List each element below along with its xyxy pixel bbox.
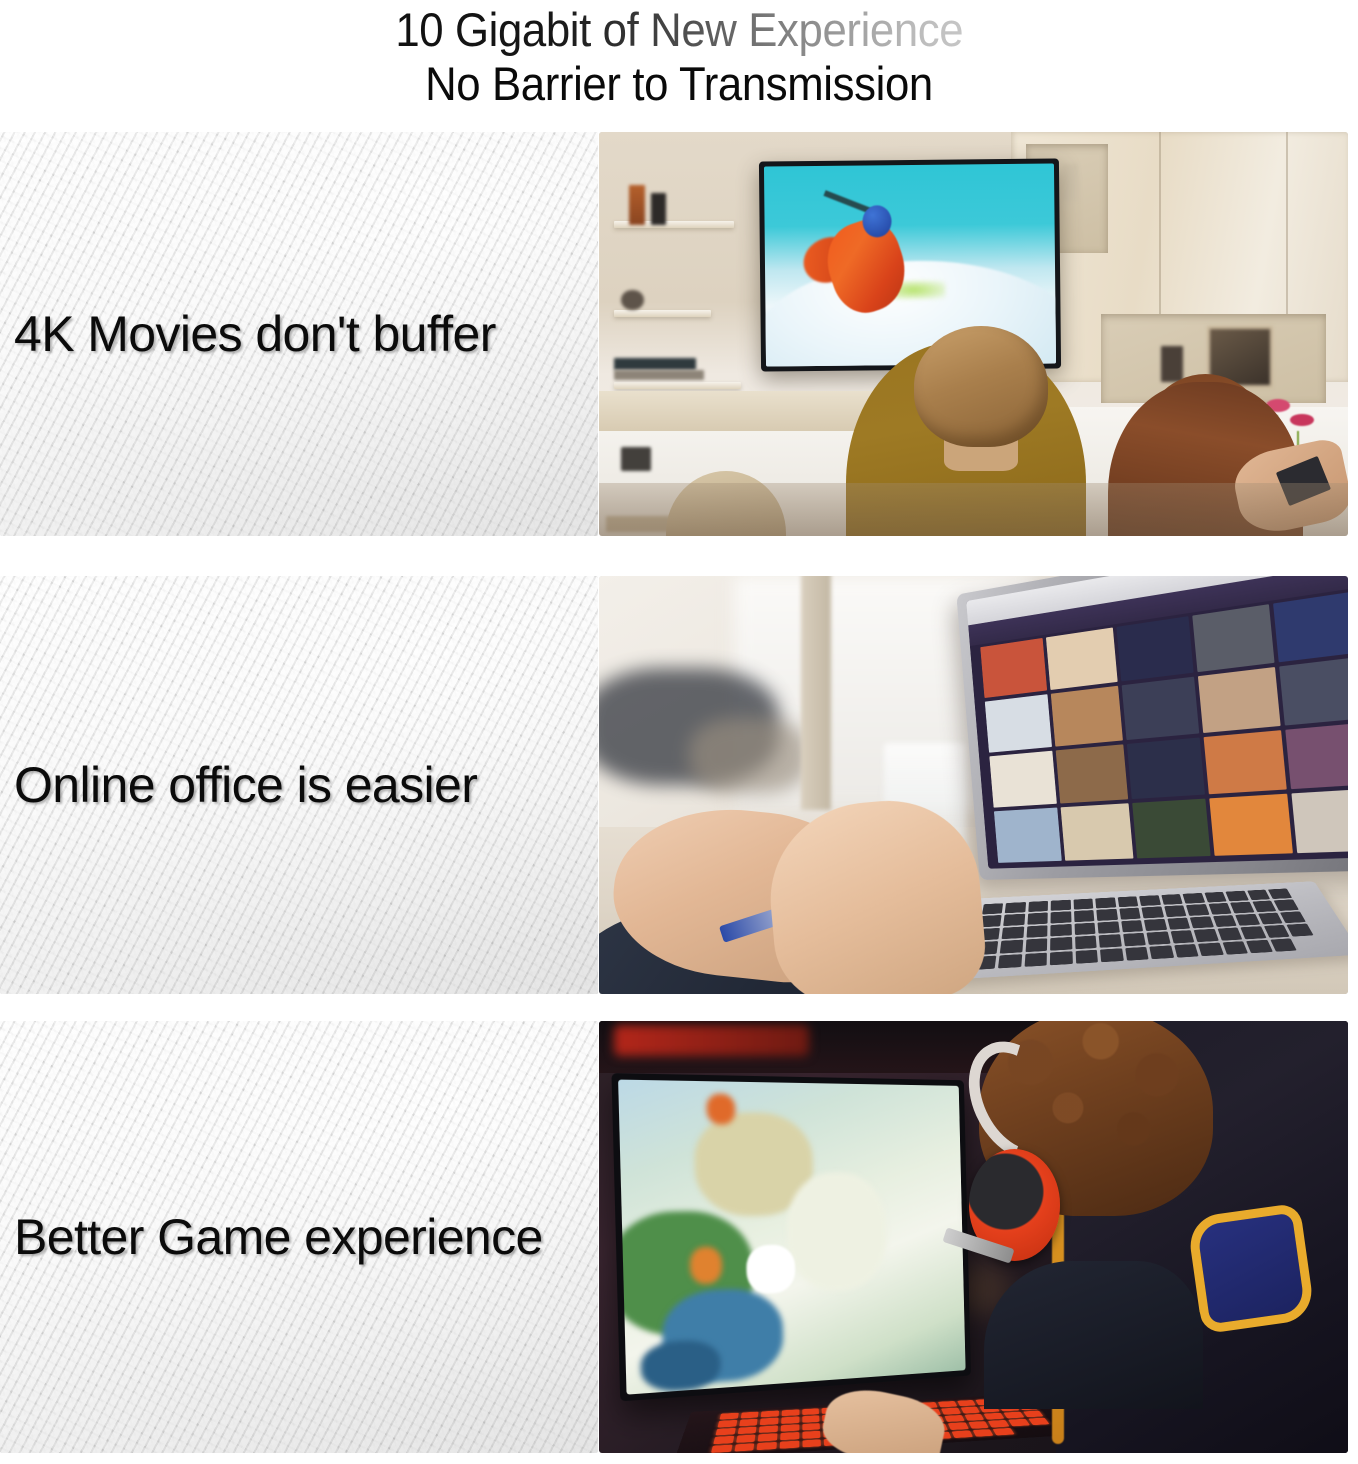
key [1280, 912, 1306, 924]
key [1099, 935, 1122, 948]
grid-tile [1203, 730, 1287, 794]
caption-panel-game: Better Game experience [0, 1021, 598, 1453]
key [1026, 939, 1048, 953]
key [1076, 950, 1099, 964]
key [1186, 905, 1209, 917]
feature-rows: 4K Movies don't buffer [0, 132, 1358, 1453]
key [1167, 918, 1190, 930]
key [1123, 933, 1146, 946]
key [964, 1414, 984, 1421]
key [1005, 903, 1026, 914]
key [1164, 906, 1187, 918]
key [780, 1441, 799, 1449]
caption-movies: 4K Movies don't buffer [0, 306, 496, 362]
laptop-keyboard [930, 882, 1348, 982]
grid-tile [1286, 722, 1348, 789]
key [802, 1423, 820, 1431]
caption-panel-movies: 4K Movies don't buffer [0, 132, 598, 536]
key [759, 1426, 778, 1434]
key [1204, 892, 1227, 903]
key [1213, 915, 1237, 927]
key [757, 1442, 777, 1450]
gamer-with-headset-photo [599, 1021, 1348, 1453]
monitor-stand [801, 576, 831, 810]
key [1274, 900, 1299, 911]
key [1287, 924, 1313, 937]
laptop-lid [956, 576, 1348, 880]
grid-tile [1132, 799, 1210, 859]
grid-tile [985, 694, 1052, 752]
key [1121, 920, 1143, 932]
grid-tile [1060, 803, 1133, 860]
red-backlight-glow [614, 1025, 809, 1055]
key [761, 1411, 779, 1418]
key [1075, 936, 1097, 949]
key [982, 904, 1004, 915]
key [1235, 914, 1260, 926]
key [734, 1443, 755, 1452]
key [737, 1427, 756, 1435]
key [1008, 1419, 1029, 1426]
key [802, 1408, 819, 1415]
key [782, 1410, 799, 1417]
grid-tile [1209, 794, 1294, 856]
key [1150, 946, 1174, 960]
key [1002, 927, 1024, 940]
key [1028, 901, 1048, 912]
key [1174, 944, 1199, 958]
grid-tile [1198, 667, 1282, 733]
speaker [621, 447, 651, 471]
key [952, 1431, 973, 1439]
feature-row-game: Better Game experience [0, 1021, 1358, 1453]
key [802, 1439, 821, 1447]
key [1074, 899, 1094, 910]
key [1198, 943, 1223, 957]
shelf-low [614, 382, 741, 389]
key [802, 1416, 820, 1423]
game-terrain-c [786, 1172, 888, 1293]
key [1003, 1412, 1024, 1419]
key [1247, 890, 1271, 901]
grid-tile [1192, 604, 1275, 672]
key [1144, 919, 1167, 931]
gamer [959, 1021, 1214, 1380]
grid-tile [1292, 788, 1348, 853]
key [1027, 926, 1048, 939]
key [1264, 925, 1290, 938]
key [740, 1412, 758, 1419]
shelf-book-c [614, 370, 704, 380]
shelf-bowl [621, 290, 643, 310]
grid-tile [1056, 744, 1128, 803]
man-head [914, 326, 1049, 447]
grid-tile [989, 751, 1056, 808]
key [720, 1413, 739, 1420]
key [988, 1420, 1009, 1427]
key [1161, 895, 1183, 906]
key [1258, 913, 1283, 925]
sofa-back [599, 483, 1348, 536]
key [1074, 911, 1095, 923]
key [736, 1435, 756, 1443]
grid-tile [1280, 656, 1348, 725]
key [993, 1428, 1015, 1436]
key [781, 1417, 799, 1424]
game-minimap [641, 1339, 722, 1394]
key [1241, 927, 1267, 940]
headline-secondary: No Barrier to Transmission [425, 58, 933, 110]
key [1226, 891, 1249, 902]
key [1171, 931, 1195, 944]
caption-game: Better Game experience [0, 1209, 543, 1265]
key [1051, 912, 1071, 924]
feature-row-movies: 4K Movies don't buffer [0, 132, 1358, 536]
key [739, 1419, 758, 1426]
key [1004, 914, 1026, 926]
niche-object [1161, 346, 1183, 382]
key [1027, 913, 1048, 925]
key [984, 1413, 1005, 1420]
grid-tile [1121, 677, 1199, 740]
monitor-screen [619, 1080, 966, 1395]
key [938, 1401, 957, 1408]
key [1075, 923, 1096, 936]
laptop-screen [966, 576, 1348, 869]
key [1051, 924, 1072, 937]
key [972, 1429, 994, 1437]
key [758, 1434, 777, 1442]
key [781, 1424, 799, 1432]
caption-office: Online office is easier [0, 757, 477, 813]
hands-typing-on-laptop-photo [599, 576, 1348, 994]
grid-tile [1116, 617, 1193, 682]
key [1119, 908, 1141, 920]
shelf-book-b [614, 358, 696, 370]
shelf-vase [629, 185, 645, 225]
key [713, 1436, 734, 1444]
game-highlight [746, 1245, 795, 1295]
caption-panel-office: Online office is easier [0, 576, 598, 994]
headline-primary: 10 Gigabit of New Experience [395, 4, 963, 56]
key [1209, 904, 1232, 915]
key [715, 1428, 735, 1436]
living-room-family-watching-tv-photo [599, 132, 1348, 536]
key [1217, 928, 1242, 941]
gamer-shoulder [984, 1261, 1203, 1410]
key [718, 1420, 738, 1427]
key [944, 1415, 964, 1422]
key [1051, 937, 1073, 950]
key [1098, 922, 1120, 935]
feature-row-office: Online office is easier [0, 576, 1358, 994]
key [1183, 893, 1205, 904]
blurred-desk-object-b [689, 718, 809, 793]
key [957, 1400, 976, 1406]
grid-tile [1127, 738, 1205, 799]
flower-c [1290, 414, 1314, 426]
key [1050, 951, 1072, 965]
key [1231, 902, 1255, 913]
key [948, 1423, 969, 1430]
key [1270, 939, 1297, 953]
shelf-mid [614, 310, 711, 317]
key [1097, 909, 1118, 921]
key [1051, 900, 1071, 911]
key [1252, 901, 1276, 912]
key [1125, 947, 1149, 961]
key [960, 1407, 980, 1414]
key [1268, 889, 1292, 900]
key [780, 1432, 799, 1440]
gaming-monitor [612, 1073, 971, 1401]
key [1100, 948, 1123, 962]
key [1023, 1411, 1044, 1418]
shelf-book-a [651, 193, 666, 225]
key [1096, 898, 1117, 909]
key [1190, 917, 1214, 929]
key [1142, 907, 1164, 919]
grid-tile [1051, 686, 1123, 747]
key [711, 1445, 732, 1453]
key [941, 1408, 961, 1415]
key [968, 1421, 989, 1428]
grid-tile [994, 808, 1062, 863]
key [1140, 896, 1161, 907]
grid-tile [1046, 628, 1118, 690]
key [1025, 953, 1048, 967]
game-marker-a [707, 1094, 736, 1125]
key [999, 954, 1023, 968]
key-grid [972, 889, 1321, 970]
niche-bottle [1063, 164, 1078, 200]
key [1246, 940, 1272, 954]
key [1222, 941, 1248, 955]
key [1194, 929, 1219, 942]
key [1118, 897, 1139, 908]
key [1028, 1418, 1050, 1425]
key [1000, 940, 1023, 954]
key [802, 1431, 821, 1439]
grid-tile [1274, 591, 1348, 662]
page-header: 10 Gigabit of New Experience No Barrier … [0, 0, 1358, 132]
grid-tile [980, 638, 1047, 698]
key [760, 1418, 778, 1425]
key [1147, 932, 1171, 945]
